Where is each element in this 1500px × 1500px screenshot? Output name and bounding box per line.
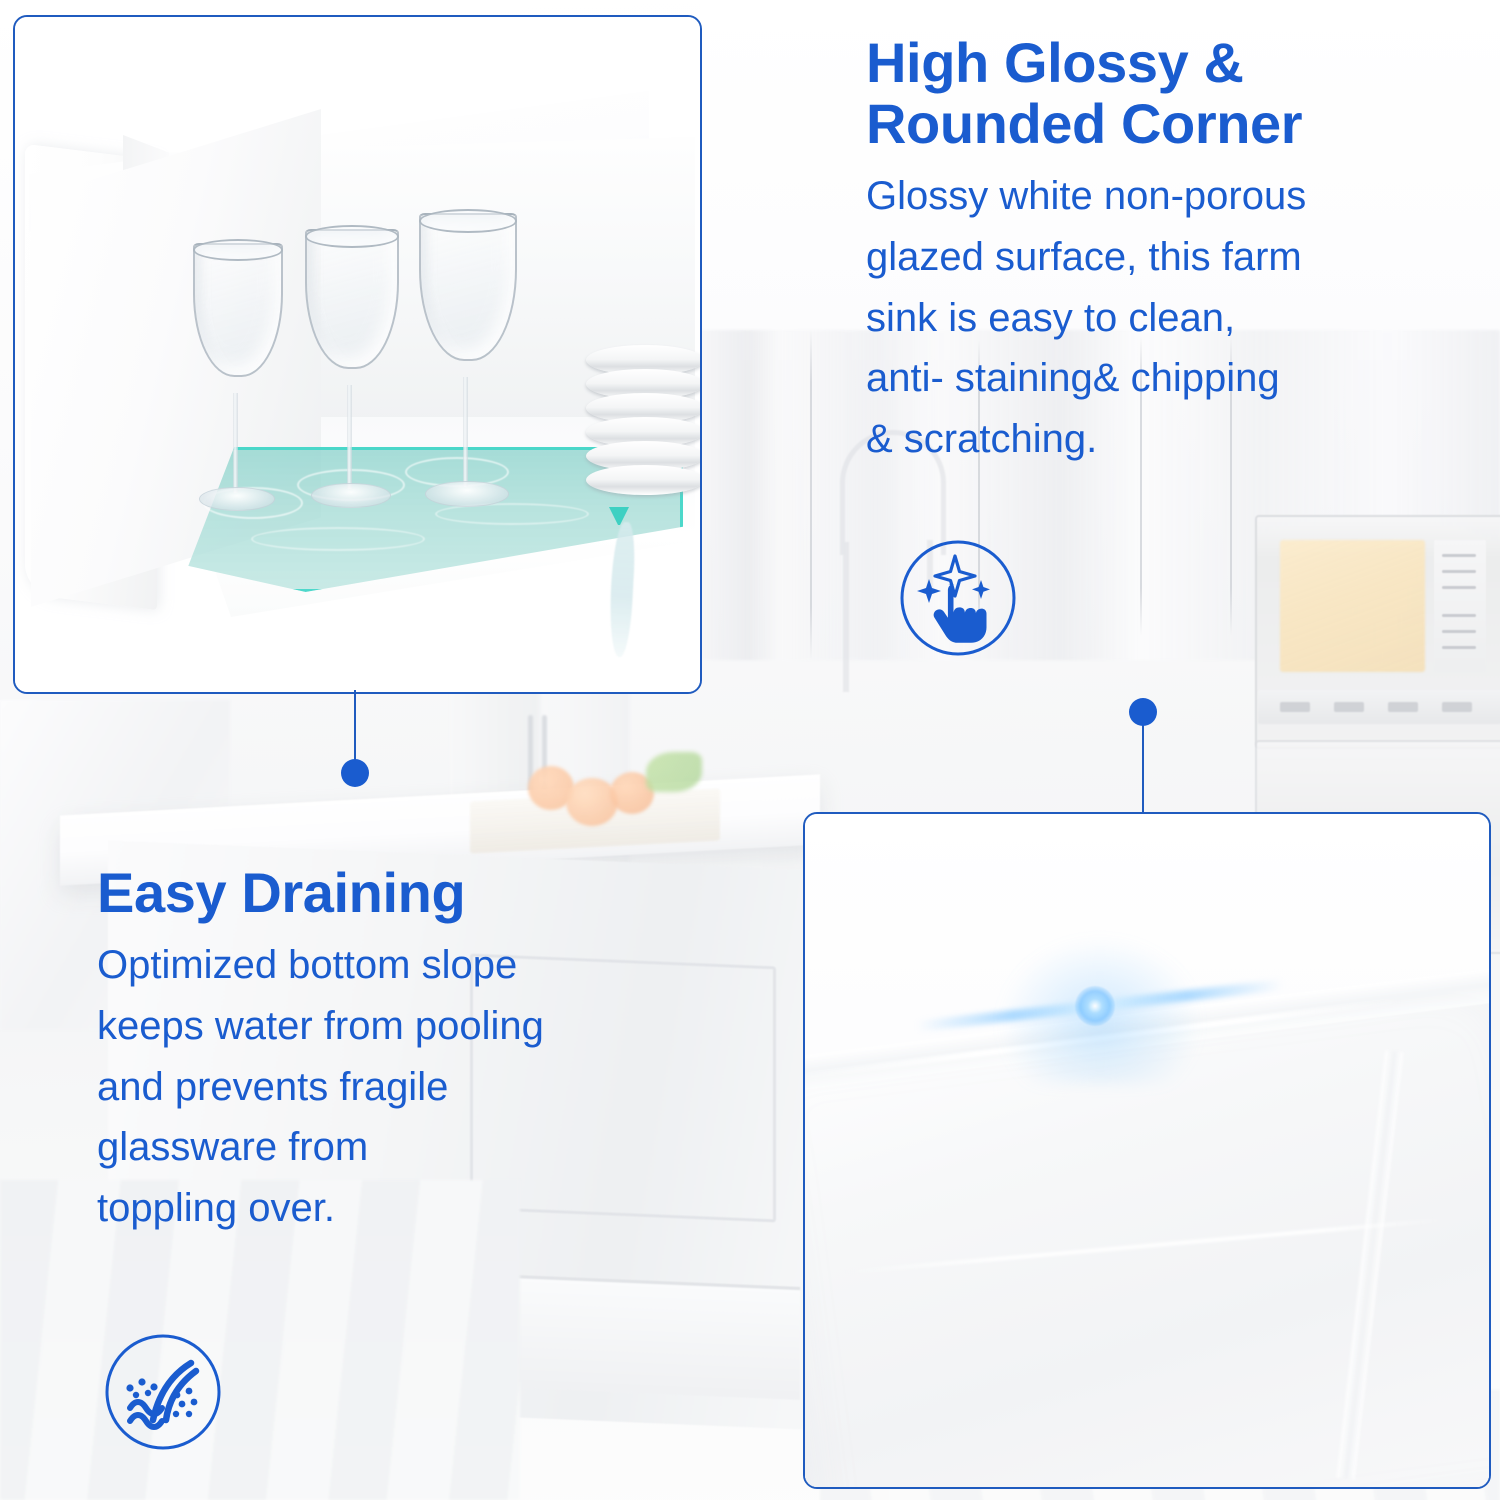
sink-photo xyxy=(15,17,700,692)
background-greens xyxy=(646,752,702,792)
feature-body-high-glossy: Glossy white non-porous glazed surface, … xyxy=(866,166,1466,470)
water-ripple xyxy=(251,527,425,551)
feature-headline-easy-draining: Easy Draining xyxy=(97,862,697,923)
connector-dot-easy-draining xyxy=(341,759,369,787)
feature-body-easy-draining: Optimized bottom slope keeps water from … xyxy=(97,935,697,1239)
connector-dot-rounded-corner xyxy=(1129,698,1157,726)
infographic-canvas: High Glossy & Rounded Corner Glossy whit… xyxy=(0,0,1500,1500)
feature-block-high-glossy: High Glossy & Rounded Corner Glossy whit… xyxy=(866,32,1466,470)
background-fruit xyxy=(566,778,618,826)
background-oven-control-bar xyxy=(1258,690,1500,724)
light-flare-core xyxy=(1075,986,1115,1026)
photo-panel-rounded-corner xyxy=(803,812,1491,1489)
background-oven-control-panel xyxy=(1434,540,1486,672)
corner-photo xyxy=(805,814,1489,1487)
cabinet-seam xyxy=(810,330,812,660)
background-oven-window xyxy=(1280,540,1425,672)
feature-block-easy-draining: Easy Draining Optimized bottom slope kee… xyxy=(97,862,697,1239)
water-flow-icon xyxy=(103,1332,223,1452)
connector-line-rounded-corner xyxy=(1142,718,1144,812)
sparkle-touch-icon xyxy=(898,538,1018,658)
feature-headline-high-glossy: High Glossy & Rounded Corner xyxy=(866,32,1466,154)
photo-panel-easy-draining xyxy=(13,15,702,694)
plate-stack xyxy=(586,345,702,513)
